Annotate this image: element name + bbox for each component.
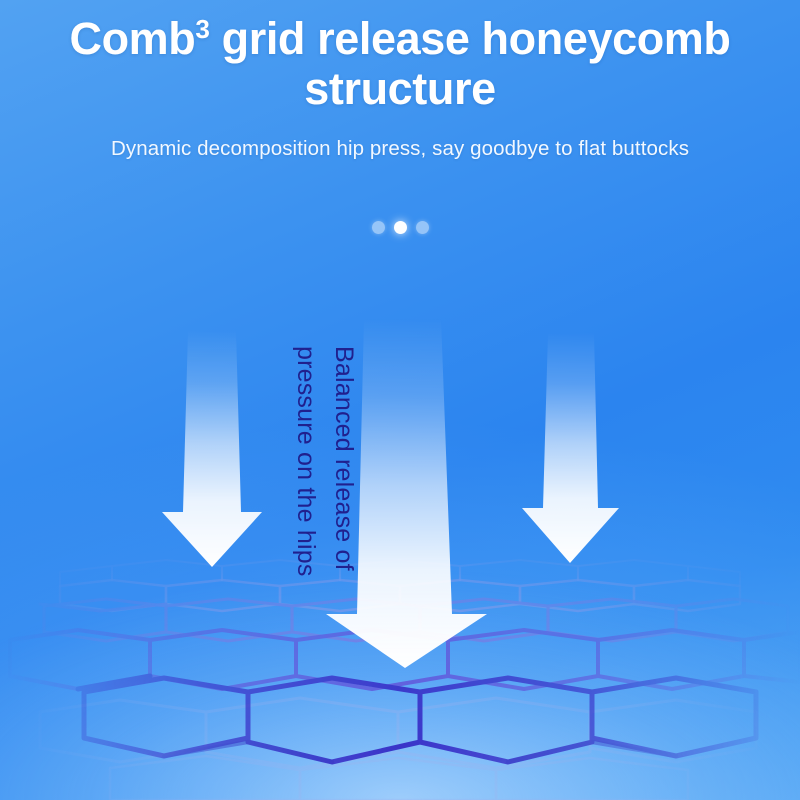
title-rest: grid release honeycomb structure (210, 13, 731, 114)
carousel-dot-3[interactable] (416, 221, 429, 234)
page-subtitle: Dynamic decomposition hip press, say goo… (0, 137, 800, 161)
carousel-dot-1[interactable] (372, 221, 385, 234)
promo-banner: Comb3 grid release honeycomb structure D… (0, 0, 800, 800)
title-prefix: Comb (70, 13, 196, 64)
page-title: Comb3 grid release honeycomb structure (0, 0, 800, 115)
title-superscript: 3 (195, 14, 209, 44)
carousel-dots[interactable] (0, 221, 800, 234)
banner-header: Comb3 grid release honeycomb structure D… (0, 0, 800, 161)
carousel-dot-2[interactable] (394, 221, 407, 234)
